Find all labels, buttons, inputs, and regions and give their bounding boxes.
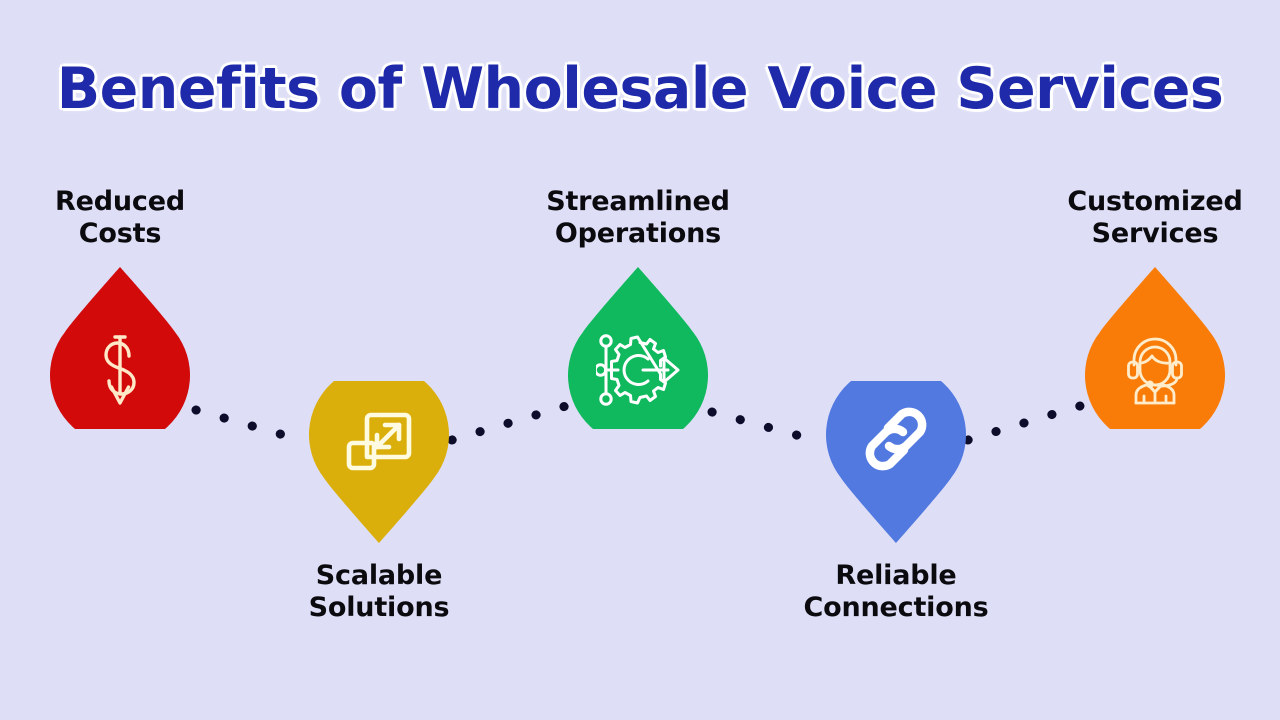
node-customized-services[interactable]: Customized Services [1035, 186, 1275, 429]
label-line-2: Services [1035, 218, 1275, 250]
pin-reduced-costs[interactable] [50, 264, 190, 429]
icon-gear-process-arrow [568, 320, 708, 420]
pin-reliable-connections[interactable] [826, 381, 966, 546]
node-label-scalable-solutions: Scalable Solutions [259, 560, 499, 624]
node-reliable-connections[interactable]: Reliable Connections [776, 381, 1016, 624]
node-label-reduced-costs: Reduced Costs [0, 186, 240, 250]
node-scalable-solutions[interactable]: Scalable Solutions [259, 381, 499, 624]
node-label-customized-services: Customized Services [1035, 186, 1275, 250]
label-line-1: Scalable [259, 560, 499, 592]
label-line-2: Solutions [259, 592, 499, 624]
pin-streamlined-operations[interactable] [568, 264, 708, 429]
label-line-2: Costs [0, 218, 240, 250]
pin-scalable-solutions[interactable] [309, 381, 449, 546]
label-line-1: Reduced [0, 186, 240, 218]
label-line-1: Streamlined [518, 186, 758, 218]
pin-customized-services[interactable] [1085, 264, 1225, 429]
icon-chain-link [826, 389, 966, 489]
icon-headset-support-agent [1085, 320, 1225, 420]
label-line-1: Customized [1035, 186, 1275, 218]
node-reduced-costs[interactable]: Reduced Costs [0, 186, 240, 429]
label-line-2: Operations [518, 218, 758, 250]
icon-dollar-down-arrow [50, 320, 190, 420]
label-line-2: Connections [776, 592, 1016, 624]
node-streamlined-operations[interactable]: Streamlined Operations [518, 186, 758, 429]
infographic-canvas: Benefits of Wholesale Voice Services Red… [0, 0, 1280, 720]
icon-resize-expand [309, 389, 449, 489]
node-label-streamlined-operations: Streamlined Operations [518, 186, 758, 250]
node-label-reliable-connections: Reliable Connections [776, 560, 1016, 624]
label-line-1: Reliable [776, 560, 1016, 592]
